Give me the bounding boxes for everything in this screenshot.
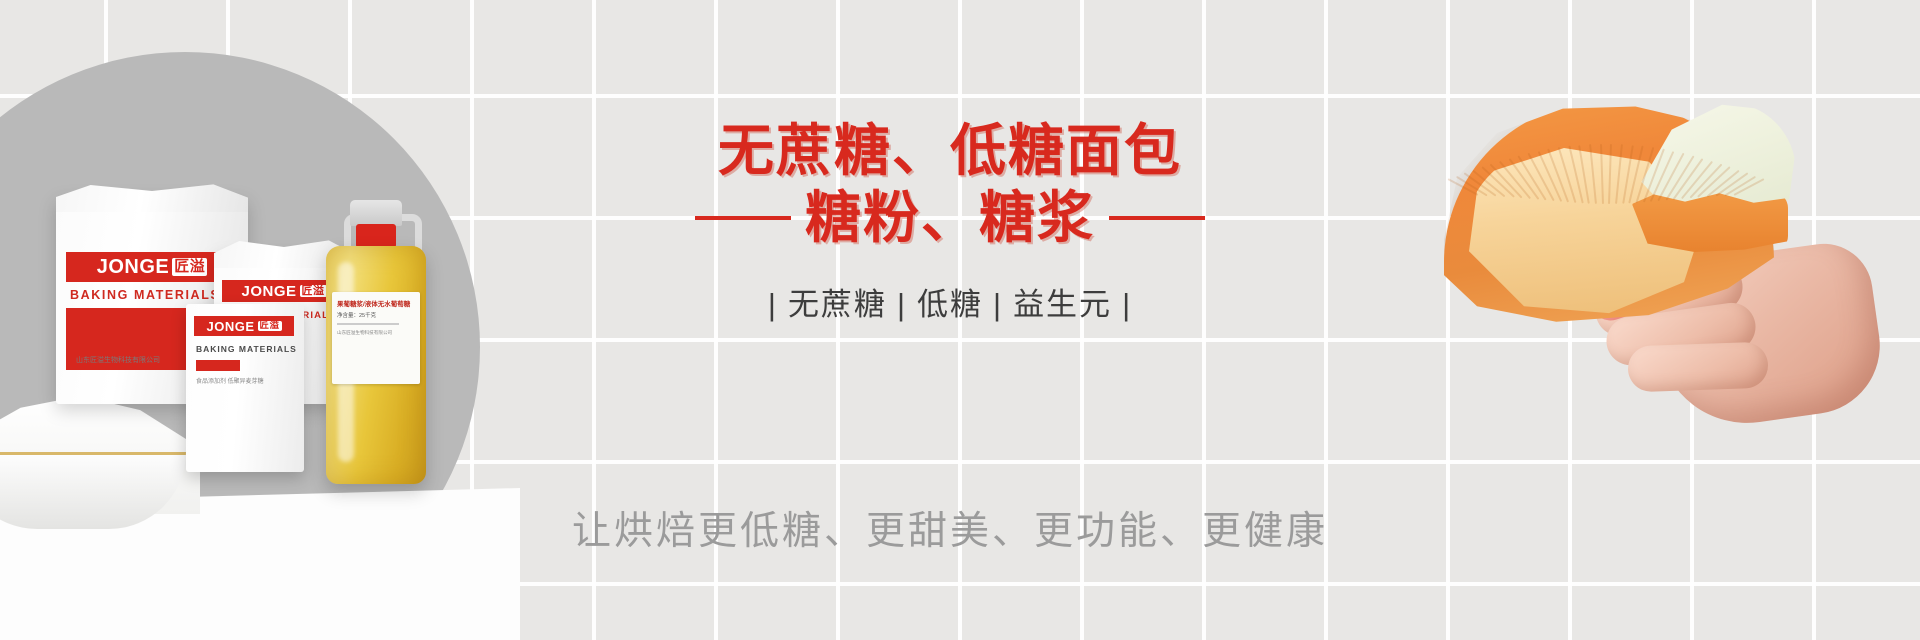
feature-item-2: 益生元 [1013, 287, 1112, 322]
brand-name-en: JONGE [97, 256, 170, 279]
bread-ridge [1589, 144, 1597, 204]
product-sachet: JONGE 匠溢 BAKING MATERIALS 食品添加剂 低聚异麦芽糖 [186, 304, 304, 472]
sachet-red-chip [196, 360, 240, 371]
rule-right [1109, 216, 1205, 220]
sachet-info-line: 食品添加剂 低聚异麦芽糖 [196, 378, 296, 388]
bag-category-label: BAKING MATERIALS [70, 288, 220, 302]
brand-label: JONGE 匠溢 [194, 316, 294, 336]
product-group: JONGE 匠溢 BAKING MATERIALS 山东匠溢生物科技有限公司 J… [0, 0, 520, 640]
headline-line-2: 糖粉、糖浆 [805, 187, 1095, 250]
bread-ridge [1615, 144, 1623, 204]
rule-left [695, 216, 791, 220]
promo-banner: JONGE 匠溢 BAKING MATERIALS 山东匠溢生物科技有限公司 J… [0, 0, 1920, 640]
bag-top-fold [56, 182, 248, 212]
bag-company-line: 山东匠溢生物科技有限公司 [76, 356, 160, 367]
feature-separator: | [897, 287, 907, 322]
bottle-label-divider [337, 323, 399, 325]
brand-label: JONGE 匠溢 [66, 252, 238, 282]
feature-separator: | [1122, 287, 1132, 322]
feature-list: |无蔗糖|低糖|益生元| [600, 279, 1300, 324]
brand-name-cn: 匠溢 [172, 258, 207, 275]
bottle-label-net: 净含量：25千克 [337, 311, 420, 319]
bread-ridge [1558, 147, 1577, 203]
sachet-category-label: BAKING MATERIALS [196, 344, 297, 354]
feature-separator: | [768, 287, 778, 322]
bottle-neck-band [356, 224, 396, 248]
brand-name-en: JONGE [241, 283, 296, 300]
powder-bowl [0, 452, 186, 529]
finger-ring [1627, 342, 1769, 393]
bread-texture-ridges [1454, 136, 1754, 256]
bread-photo [1444, 96, 1864, 426]
brand-name-en: JONGE [206, 319, 254, 334]
product-syrup-bottle: 果葡糖浆/液体无水葡萄糖 净含量：25千克 山东匠溢生物科技有限公司 [322, 200, 430, 486]
bread-ridge [1608, 144, 1612, 204]
bread-slice [1444, 96, 1784, 326]
bottle-cap [350, 200, 402, 226]
headline-line-2-row: 糖粉、糖浆 [600, 187, 1300, 250]
bottle-label: 果葡糖浆/液体无水葡萄糖 净含量：25千克 山东匠溢生物科技有限公司 [332, 292, 420, 384]
feature-separator: | [993, 287, 1003, 322]
tagline: 让烘焙更低糖、更甜美、更功能、更健康 [520, 500, 1380, 556]
brand-name-cn: 匠溢 [258, 321, 282, 332]
headline-block: 无蔗糖、低糖面包 糖粉、糖浆 |无蔗糖|低糖|益生元| [600, 120, 1300, 324]
bottle-label-detail: 山东匠溢生物科技有限公司 [337, 329, 420, 336]
feature-item-1: 低糖 [917, 287, 983, 322]
feature-item-0: 无蔗糖 [788, 287, 887, 322]
bottle-label-title: 果葡糖浆/液体无水葡萄糖 [337, 298, 420, 308]
bread-ridge [1600, 144, 1604, 204]
headline-line-1: 无蔗糖、低糖面包 [600, 120, 1300, 183]
